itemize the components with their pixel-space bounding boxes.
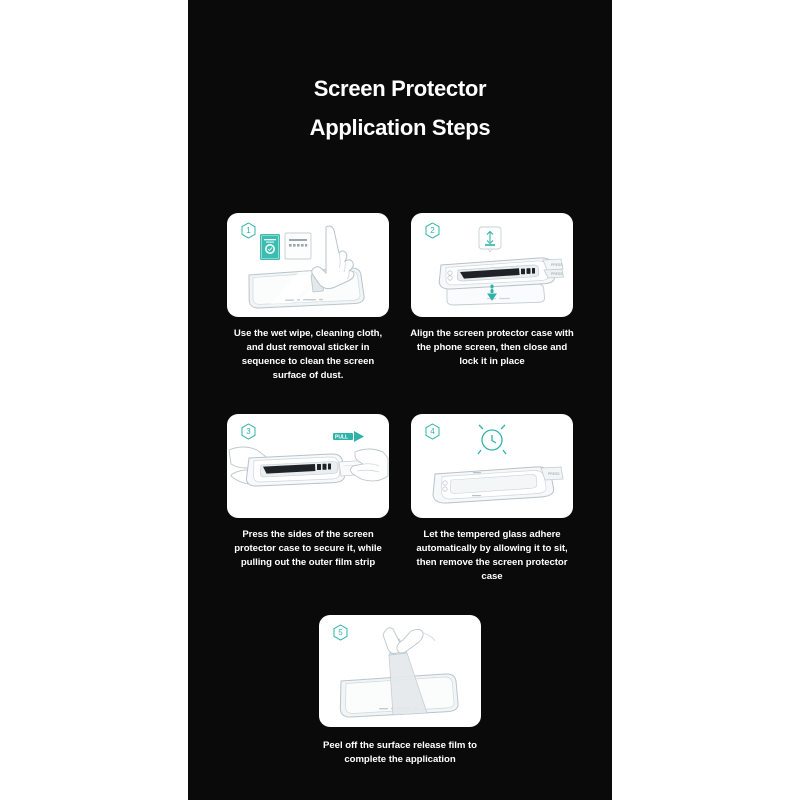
step-2: 2 — [411, 213, 573, 383]
step-4-card: 4 — [411, 414, 573, 518]
steps-grid: 1 — [188, 213, 612, 767]
step-5-caption: Peel off the surface release film to com… — [305, 739, 495, 767]
svg-text:PRESS: PRESS — [551, 263, 563, 267]
step-4-caption: Let the tempered glass adhere automatica… — [409, 528, 575, 584]
svg-text:PULL: PULL — [335, 435, 348, 441]
step-1-card: 1 — [227, 213, 389, 317]
svg-text:PRESS: PRESS — [551, 272, 563, 276]
instruction-panel: Screen Protector Application Steps 1 — [188, 0, 612, 800]
hexagon-badge-icon: 2 — [424, 222, 441, 239]
step-1-caption: Use the wet wipe, cleaning cloth, and du… — [225, 327, 391, 383]
step-number: 4 — [430, 428, 434, 436]
step-number: 1 — [246, 227, 250, 235]
step-5-card: 5 — [319, 615, 481, 727]
hexagon-badge-icon: 1 — [240, 222, 257, 239]
steps-row-2: 3 — [188, 414, 612, 584]
hexagon-badge-icon: 5 — [332, 624, 349, 641]
step-2-card: 2 — [411, 213, 573, 317]
step-3-caption: Press the sides of the screen protector … — [225, 528, 391, 570]
title-line-2: Application Steps — [188, 117, 612, 139]
hexagon-badge-icon: 4 — [424, 423, 441, 440]
step-2-caption: Align the screen protector case with the… — [409, 327, 575, 369]
steps-row-1: 1 — [188, 213, 612, 383]
page-title: Screen Protector Application Steps — [188, 78, 612, 139]
title-line-1: Screen Protector — [188, 78, 612, 100]
step-3: 3 — [227, 414, 389, 584]
hexagon-badge-icon: 3 — [240, 423, 257, 440]
step-number: 3 — [246, 428, 250, 436]
step-4: 4 — [411, 414, 573, 584]
step-number: 2 — [430, 227, 434, 235]
step-number: 5 — [338, 629, 342, 637]
step-1: 1 — [227, 213, 389, 383]
step-3-card: 3 — [227, 414, 389, 518]
steps-row-3: 5 — [188, 615, 612, 767]
svg-text:PRESS: PRESS — [548, 472, 560, 476]
step-5: 5 — [319, 615, 481, 767]
